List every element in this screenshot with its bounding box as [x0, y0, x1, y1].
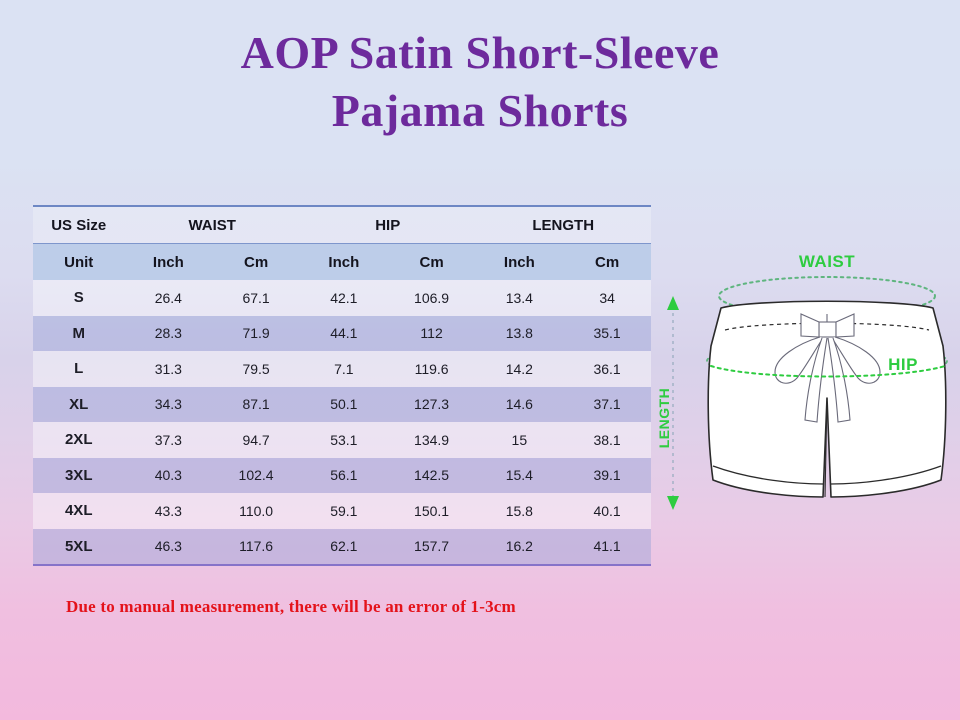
table-bottom-rule [33, 565, 651, 569]
hip-label: HIP [888, 355, 918, 374]
cell-hip-cm: 112 [388, 316, 476, 352]
table-row: 4XL 43.3 110.0 59.1 150.1 15.8 40.1 [33, 493, 651, 529]
table-row: 3XL 40.3 102.4 56.1 142.5 15.4 39.1 [33, 458, 651, 494]
cell-waist-cm: 110.0 [212, 493, 300, 529]
unit-hip-inch: Inch [300, 244, 388, 281]
table-row: 2XL 37.3 94.7 53.1 134.9 15 38.1 [33, 422, 651, 458]
cell-length-cm: 40.1 [563, 493, 651, 529]
column-header-length: LENGTH [475, 206, 651, 244]
cell-length-inch: 16.2 [475, 529, 563, 566]
cell-length-inch: 14.6 [475, 387, 563, 423]
cell-length-inch: 13.4 [475, 280, 563, 316]
cell-hip-cm: 150.1 [388, 493, 476, 529]
cell-waist-inch: 43.3 [124, 493, 212, 529]
column-header-waist: WAIST [124, 206, 300, 244]
cell-waist-inch: 31.3 [124, 351, 212, 387]
unit-hip-cm: Cm [388, 244, 476, 281]
cell-hip-cm: 106.9 [388, 280, 476, 316]
cell-length-cm: 39.1 [563, 458, 651, 494]
cell-length-cm: 35.1 [563, 316, 651, 352]
length-label: LENGTH [656, 388, 672, 449]
cell-waist-inch: 28.3 [124, 316, 212, 352]
table-group-header-row: US Size WAIST HIP LENGTH [33, 206, 651, 244]
cell-hip-cm: 134.9 [388, 422, 476, 458]
waist-label: WAIST [799, 252, 855, 271]
cell-length-cm: 41.1 [563, 529, 651, 566]
unit-waist-cm: Cm [212, 244, 300, 281]
cell-size: L [33, 351, 124, 387]
cell-hip-cm: 157.7 [388, 529, 476, 566]
cell-waist-cm: 79.5 [212, 351, 300, 387]
cell-size: 2XL [33, 422, 124, 458]
cell-hip-cm: 119.6 [388, 351, 476, 387]
column-header-hip: HIP [300, 206, 476, 244]
size-chart-table: US Size WAIST HIP LENGTH Unit Inch Cm In… [33, 202, 651, 569]
cell-waist-cm: 67.1 [212, 280, 300, 316]
cell-size: 3XL [33, 458, 124, 494]
cell-length-inch: 13.8 [475, 316, 563, 352]
cell-hip-cm: 127.3 [388, 387, 476, 423]
measurement-disclaimer: Due to manual measurement, there will be… [66, 597, 516, 617]
cell-waist-cm: 71.9 [212, 316, 300, 352]
table-row: M 28.3 71.9 44.1 112 13.8 35.1 [33, 316, 651, 352]
cell-size: 4XL [33, 493, 124, 529]
shorts-measurement-diagram: LENGTH WAIST HIP [655, 248, 960, 533]
cell-hip-inch: 53.1 [300, 422, 388, 458]
cell-waist-cm: 87.1 [212, 387, 300, 423]
cell-length-cm: 37.1 [563, 387, 651, 423]
cell-length-inch: 14.2 [475, 351, 563, 387]
cell-hip-inch: 62.1 [300, 529, 388, 566]
cell-hip-inch: 50.1 [300, 387, 388, 423]
cell-length-inch: 15 [475, 422, 563, 458]
cell-hip-inch: 59.1 [300, 493, 388, 529]
cell-waist-cm: 102.4 [212, 458, 300, 494]
cell-length-cm: 38.1 [563, 422, 651, 458]
unit-length-inch: Inch [475, 244, 563, 281]
unit-label: Unit [33, 244, 124, 281]
column-header-us-size: US Size [33, 206, 124, 244]
cell-waist-cm: 117.6 [212, 529, 300, 566]
table-row: S 26.4 67.1 42.1 106.9 13.4 34 [33, 280, 651, 316]
cell-hip-inch: 44.1 [300, 316, 388, 352]
cell-waist-inch: 46.3 [124, 529, 212, 566]
unit-waist-inch: Inch [124, 244, 212, 281]
table-row: XL 34.3 87.1 50.1 127.3 14.6 37.1 [33, 387, 651, 423]
cell-length-inch: 15.4 [475, 458, 563, 494]
unit-length-cm: Cm [563, 244, 651, 281]
page-title-line-1: AOP Satin Short-Sleeve [0, 24, 960, 82]
cell-length-cm: 34 [563, 280, 651, 316]
cell-hip-inch: 7.1 [300, 351, 388, 387]
cell-length-inch: 15.8 [475, 493, 563, 529]
cell-hip-cm: 142.5 [388, 458, 476, 494]
page-title: AOP Satin Short-Sleeve Pajama Shorts [0, 24, 960, 139]
cell-waist-inch: 37.3 [124, 422, 212, 458]
cell-length-cm: 36.1 [563, 351, 651, 387]
cell-size: M [33, 316, 124, 352]
table-row: 5XL 46.3 117.6 62.1 157.7 16.2 41.1 [33, 529, 651, 566]
cell-size: S [33, 280, 124, 316]
cell-waist-inch: 40.3 [124, 458, 212, 494]
cell-waist-cm: 94.7 [212, 422, 300, 458]
cell-size: XL [33, 387, 124, 423]
table-row: L 31.3 79.5 7.1 119.6 14.2 36.1 [33, 351, 651, 387]
cell-waist-inch: 26.4 [124, 280, 212, 316]
table-unit-row: Unit Inch Cm Inch Cm Inch Cm [33, 244, 651, 281]
size-chart-table-container: US Size WAIST HIP LENGTH Unit Inch Cm In… [33, 202, 651, 569]
cell-hip-inch: 56.1 [300, 458, 388, 494]
page-title-line-2: Pajama Shorts [0, 82, 960, 140]
cell-waist-inch: 34.3 [124, 387, 212, 423]
cell-hip-inch: 42.1 [300, 280, 388, 316]
cell-size: 5XL [33, 529, 124, 566]
